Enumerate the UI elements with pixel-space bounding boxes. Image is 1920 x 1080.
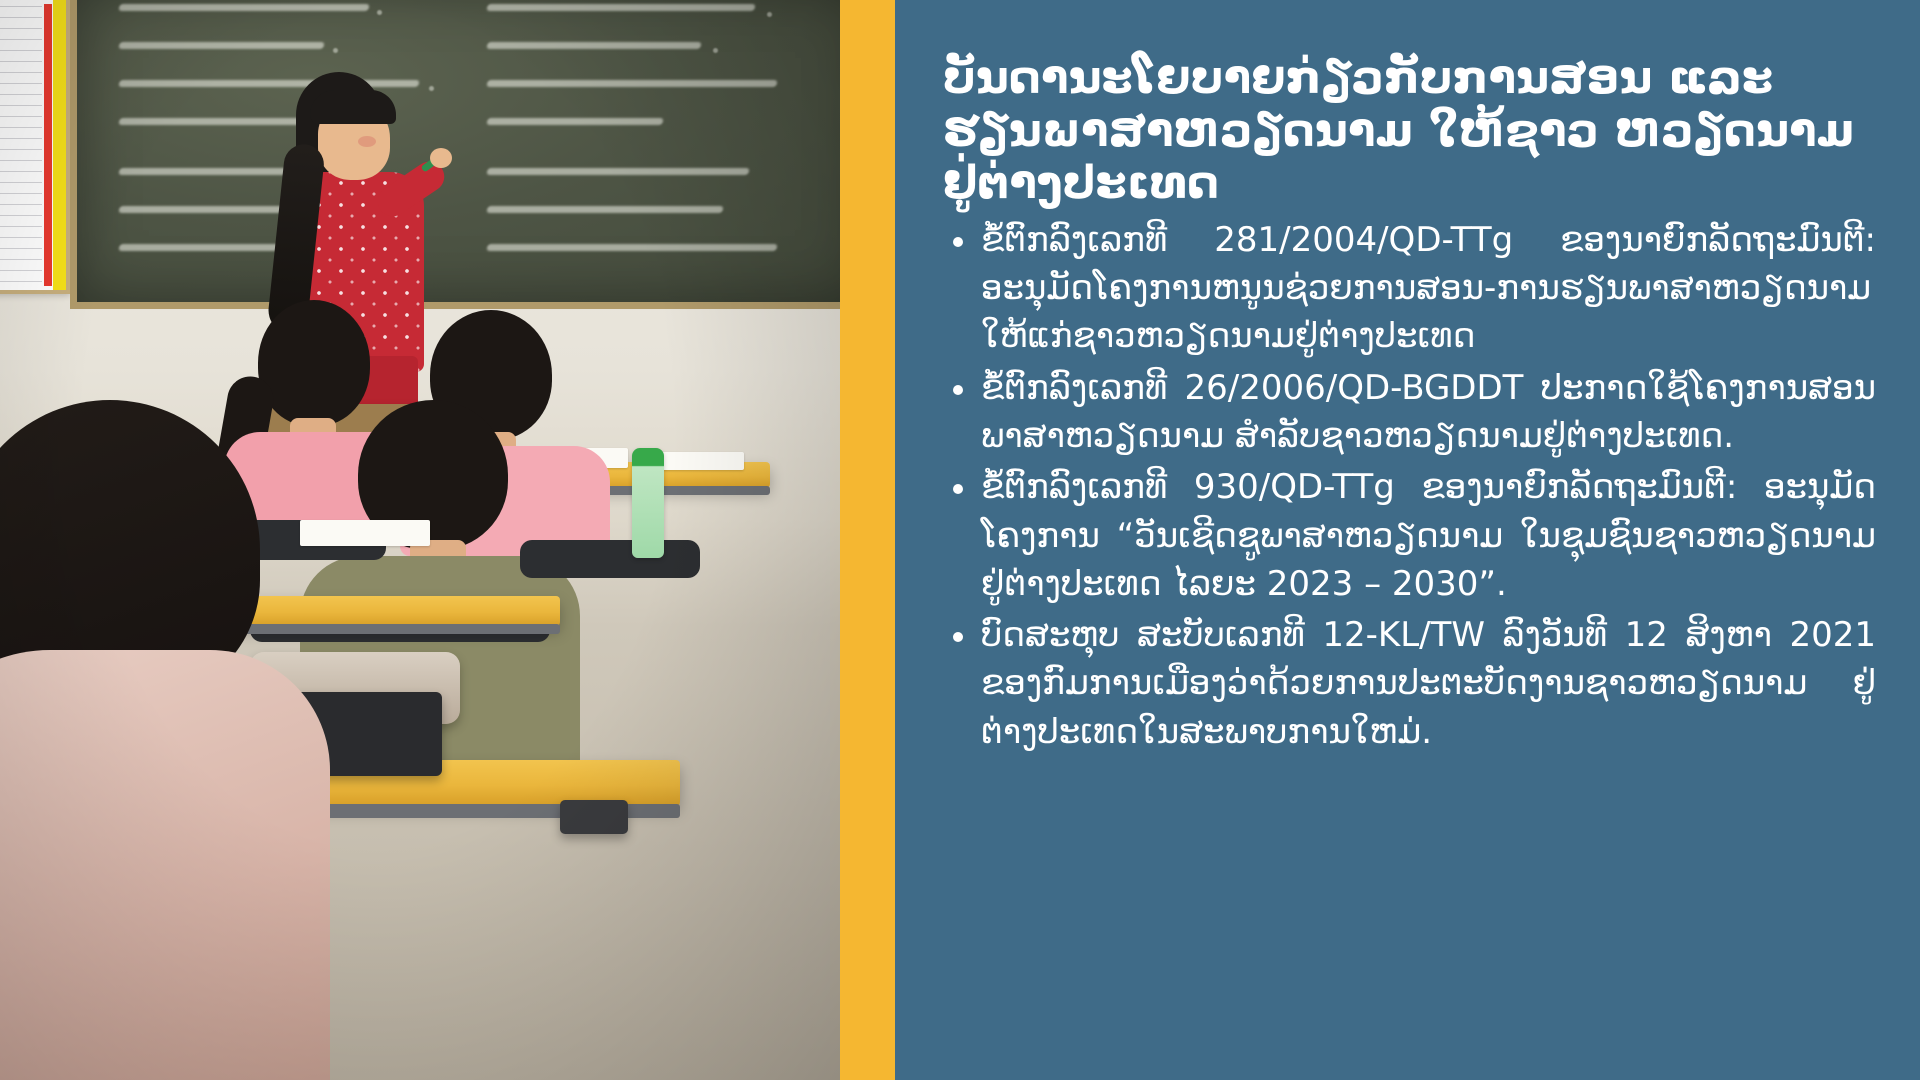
- yellow-divider: [840, 0, 895, 1080]
- chair-back: [520, 540, 700, 578]
- poster-yellow-band: [53, 0, 66, 290]
- poster-ruled-lines: [0, 6, 42, 284]
- presentation-slide: ບັນດານະໂຍບາຍກ່ຽວກັບການສອນ ແລະ ຮຽນພາສາຫວຽ…: [0, 0, 1920, 1080]
- poster-red-band: [44, 4, 52, 286]
- list-item: ຂໍ້ຕົກລົງເລກທີ 281/2004/QD-TTg ຂອງນາຍົກລ…: [943, 216, 1876, 361]
- list-item: ບົດສະຫຸບ ສະບັບເລກທີ 12-KL/TW ລົງວັນທີ 12…: [943, 611, 1876, 756]
- tablet-device: [560, 800, 628, 834]
- page-title: ບັນດານະໂຍບາຍກ່ຽວກັບການສອນ ແລະ ຮຽນພາສາຫວຽ…: [943, 52, 1876, 210]
- foreground-student: [0, 400, 350, 1080]
- list-item: ຂໍ້ຕົກລົງເລກທີ 26/2006/QD-BGDDT ປະກາດໃຊ້…: [943, 364, 1876, 461]
- content-panel: ບັນດານະໂຍບາຍກ່ຽວກັບການສອນ ແລະ ຮຽນພາສາຫວຽ…: [895, 0, 1920, 1080]
- list-item: ຂໍ້ຕົກລົງເລກທີ 930/QD-TTg ຂອງນາຍົກລັດຖະມ…: [943, 463, 1876, 608]
- wall-poster: [0, 0, 70, 294]
- water-bottle: [632, 448, 664, 558]
- classroom-photo: [0, 0, 840, 1080]
- policy-bullet-list: ຂໍ້ຕົກລົງເລກທີ 281/2004/QD-TTg ຂອງນາຍົກລ…: [943, 216, 1876, 759]
